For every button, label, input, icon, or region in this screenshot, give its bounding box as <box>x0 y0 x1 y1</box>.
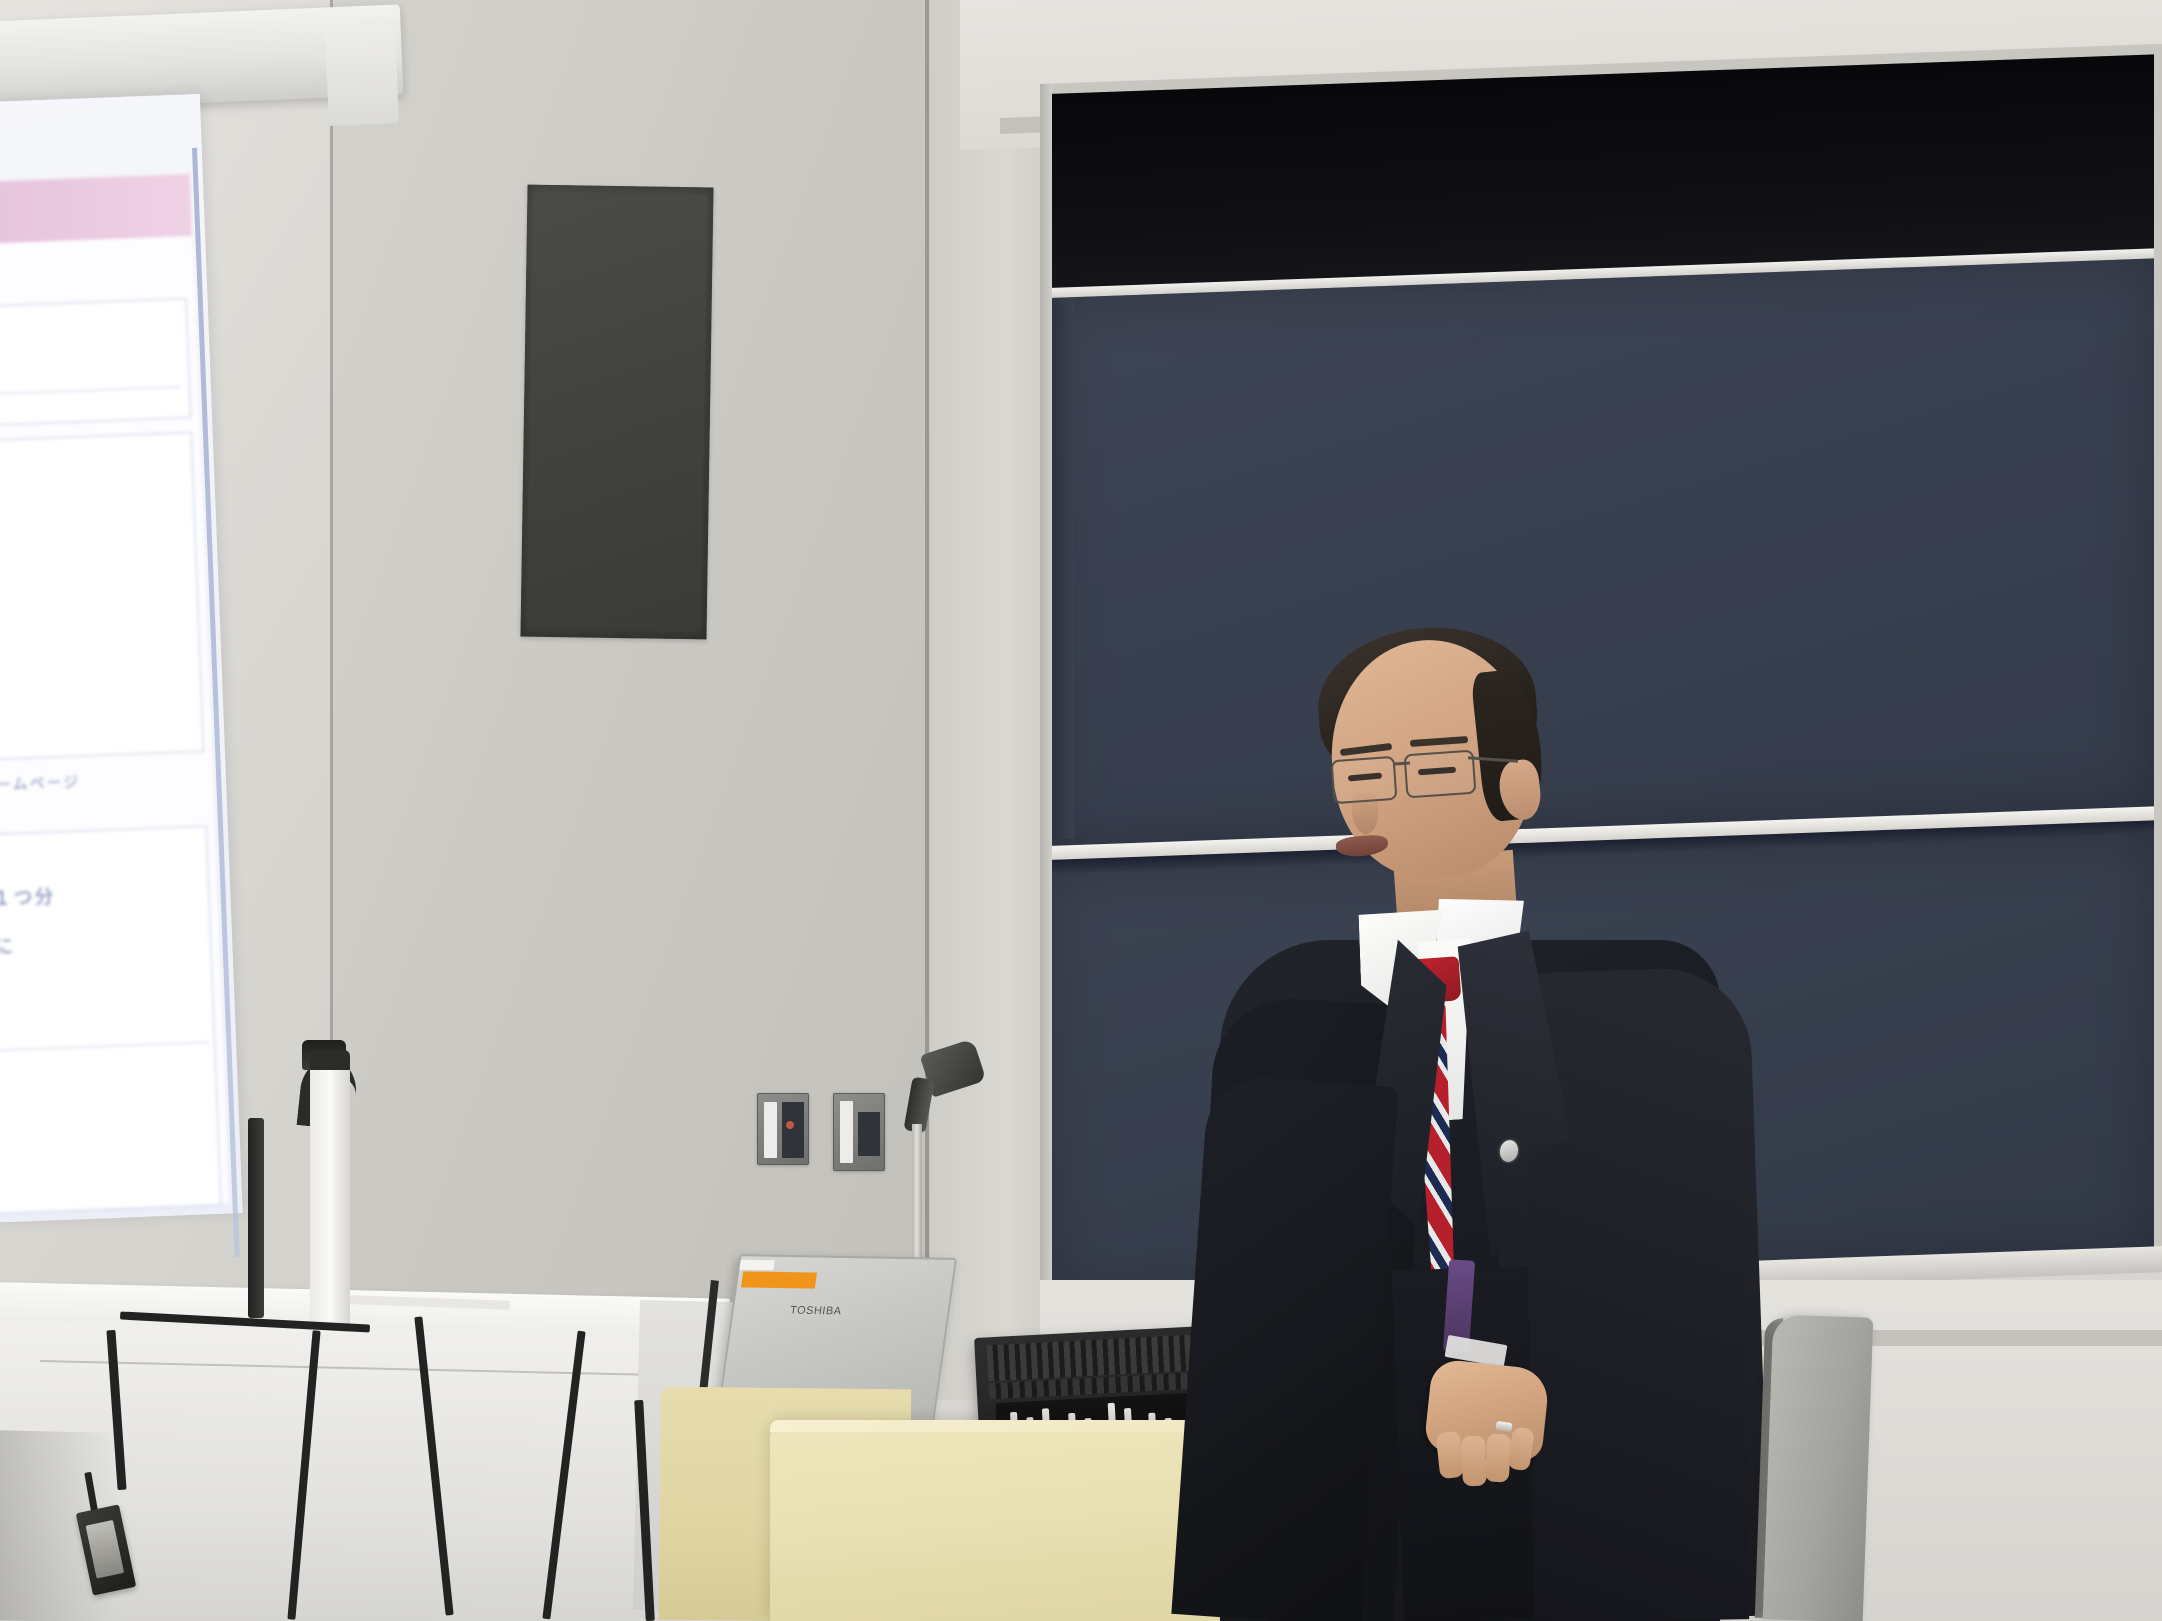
remote-keypad[interactable] <box>86 1520 125 1579</box>
indicator-led <box>786 1121 794 1129</box>
chair-back <box>1763 1314 1874 1621</box>
eyeglasses-lens-right <box>1404 750 1477 799</box>
wall-seam <box>925 0 929 1400</box>
slide-photo-box: 第40回年度優良事業者の表彰 エジプト政府から表彰を受賞 <box>0 432 204 767</box>
panel-window <box>782 1102 804 1158</box>
slide-line-1: 則として、その貨物を <box>0 350 1 385</box>
panel-display <box>858 1112 880 1156</box>
arm-left <box>1171 1074 1398 1621</box>
arm-right <box>1526 1138 1749 1621</box>
blackboard-left-edge <box>1040 84 1052 1294</box>
wall-speaker-grille <box>527 193 708 632</box>
laptop-brand-label: TOSHIBA <box>789 1305 842 1318</box>
finger <box>1461 1436 1487 1487</box>
slide-source-note: 出典：同ホームページ <box>0 771 81 798</box>
slide-text-box-1: 則として、その貨物を <box>0 298 191 433</box>
presenter <box>1200 640 1760 1621</box>
finger <box>1436 1431 1465 1479</box>
laptop-sticker-orange <box>741 1271 817 1288</box>
laptop-sticker-white <box>739 1260 774 1271</box>
projected-slide: 則として、その貨物を 第40回年度優良事業者の表彰 エジプト政府から表彰を受賞 … <box>0 174 229 1219</box>
switch-bank[interactable] <box>764 1102 777 1158</box>
av-control-panel[interactable] <box>833 1093 885 1171</box>
desk-mic-base-column <box>310 1062 350 1332</box>
finger <box>1485 1433 1511 1482</box>
desk-mic-column-cap <box>310 1050 350 1070</box>
wall-speaker-panel <box>520 185 713 640</box>
desk-microphone-shaft <box>248 1118 264 1318</box>
slide-body: 則として、その貨物を 第40回年度優良事業者の表彰 エジプト政府から表彰を受賞 … <box>0 236 229 1219</box>
switch-bank[interactable] <box>840 1101 853 1163</box>
lecture-hall-photo: 則として、その貨物を 第40回年度優良事業者の表彰 エジプト政府から表彰を受賞 … <box>0 0 2162 1621</box>
projection-screen-end-cap <box>325 27 399 126</box>
lighting-control-panel[interactable] <box>757 1093 809 1165</box>
